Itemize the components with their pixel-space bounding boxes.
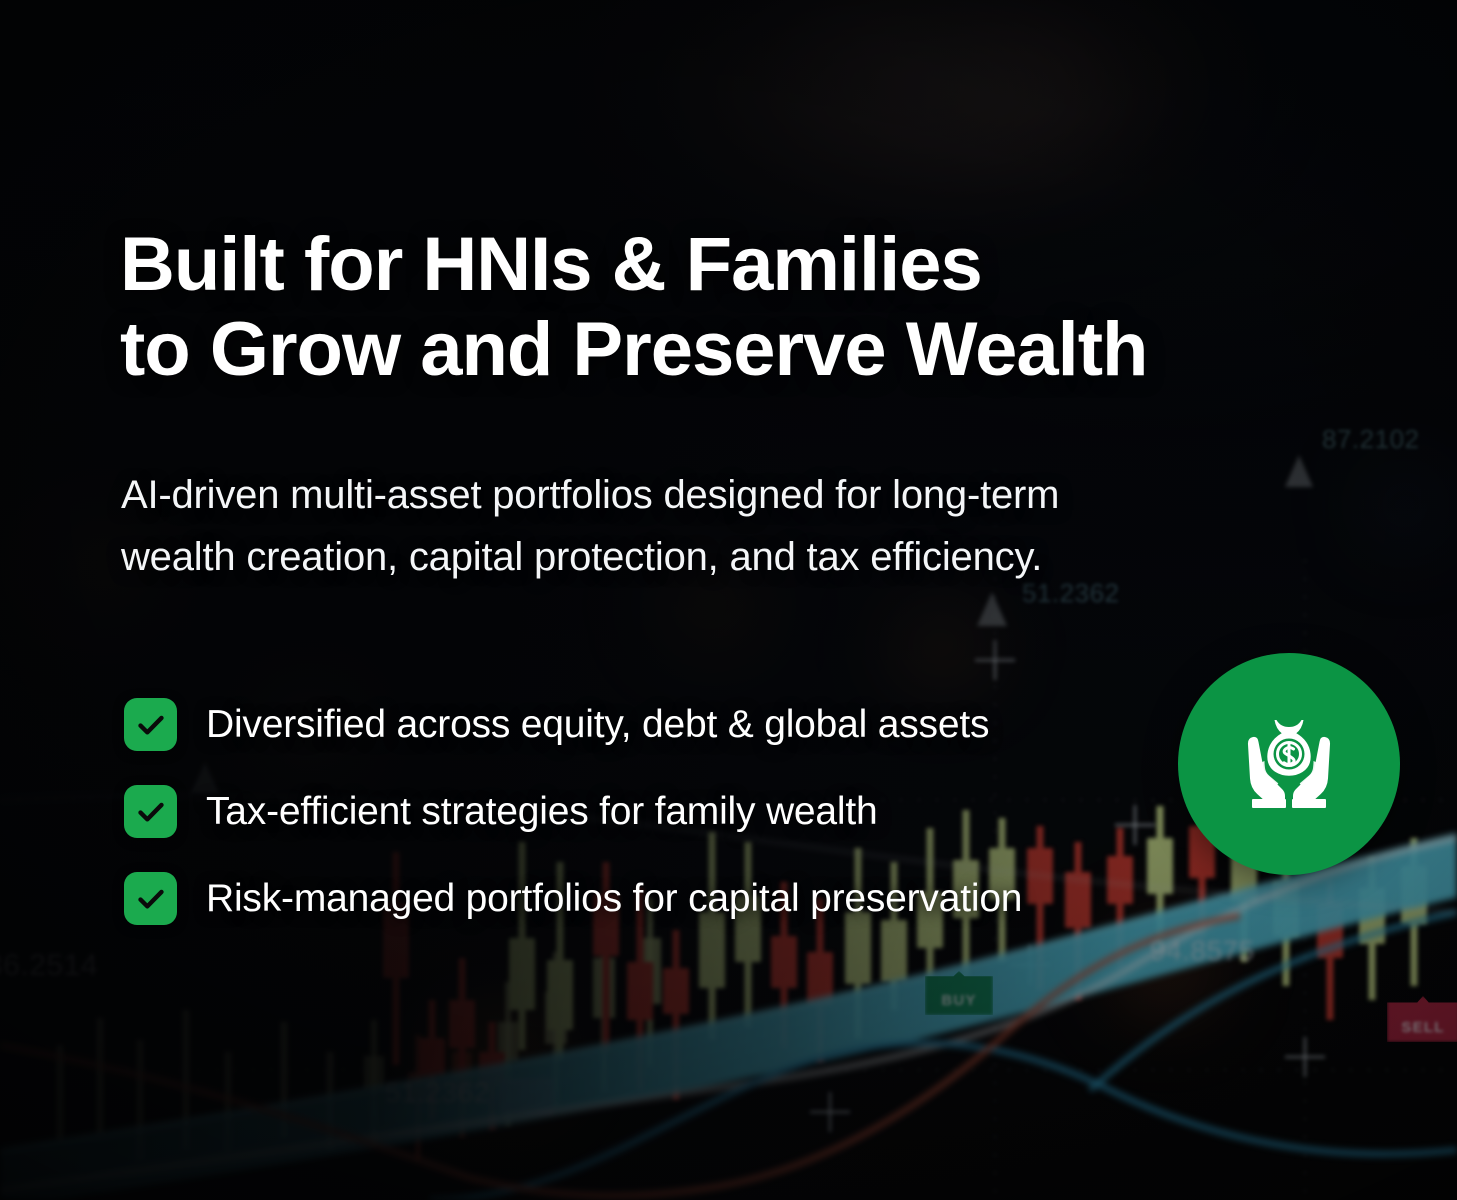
hero-banner: 87.2102 51.2362 36.2514 51.2362 94.8575 …	[0, 0, 1457, 1200]
check-icon	[124, 785, 177, 838]
subtitle-line-2: wealth creation, capital protection, and…	[121, 526, 1241, 588]
page-title: Built for HNIs & Families to Grow and Pr…	[120, 222, 1180, 392]
check-icon	[124, 872, 177, 925]
hands-holding-money-bag-icon	[1219, 694, 1359, 834]
feature-label: Diversified across equity, debt & global…	[206, 703, 989, 747]
feature-label: Risk-managed portfolios for capital pres…	[206, 877, 1022, 921]
subtitle-line-1: AI-driven multi-asset portfolios designe…	[121, 473, 1059, 517]
feature-label: Tax-efficient strategies for family weal…	[206, 790, 878, 834]
page-subtitle: AI-driven multi-asset portfolios designe…	[121, 464, 1241, 588]
feature-list: Diversified across equity, debt & global…	[124, 698, 1022, 925]
hero-content: Built for HNIs & Families to Grow and Pr…	[0, 0, 1457, 1200]
list-item: Diversified across equity, debt & global…	[124, 698, 1022, 751]
headline-line-1: Built for HNIs & Families	[120, 222, 982, 307]
wealth-badge	[1178, 653, 1400, 875]
list-item: Risk-managed portfolios for capital pres…	[124, 872, 1022, 925]
list-item: Tax-efficient strategies for family weal…	[124, 785, 1022, 838]
check-icon	[124, 698, 177, 751]
headline-line-2: to Grow and Preserve Wealth	[120, 307, 1180, 392]
